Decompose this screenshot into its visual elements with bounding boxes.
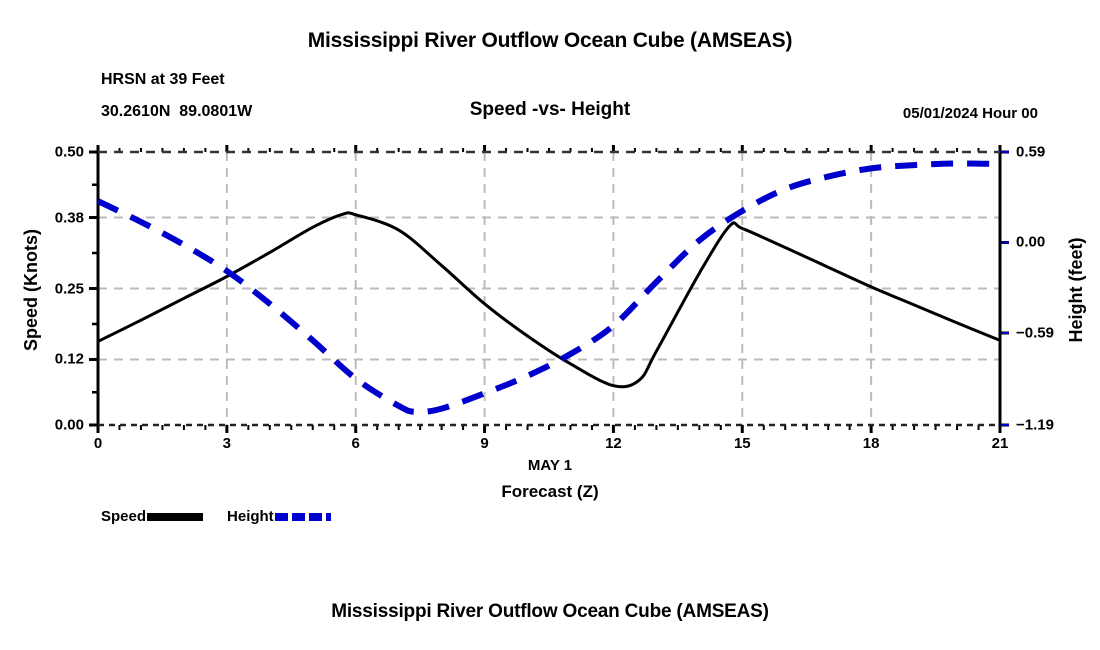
legend-item-speed[interactable]: Speed (101, 508, 203, 525)
legend-gap (203, 516, 227, 517)
legend-item-height[interactable]: Height (227, 508, 331, 525)
plot-canvas (0, 0, 1100, 650)
legend-swatch-dashed (275, 513, 331, 521)
chart-page: Mississippi River Outflow Ocean Cube (AM… (0, 0, 1100, 650)
gridlines (98, 152, 1000, 425)
series-line-speed (98, 213, 1000, 387)
legend: SpeedHeight (101, 508, 331, 525)
bottom-title: Mississippi River Outflow Ocean Cube (AM… (0, 602, 1100, 621)
legend-swatch-solid (147, 513, 203, 521)
legend-label: Speed (101, 508, 146, 525)
x-axis-day-label: MAY 1 (0, 458, 1100, 473)
legend-label: Height (227, 508, 274, 525)
x-axis-label: Forecast (Z) (0, 483, 1100, 500)
